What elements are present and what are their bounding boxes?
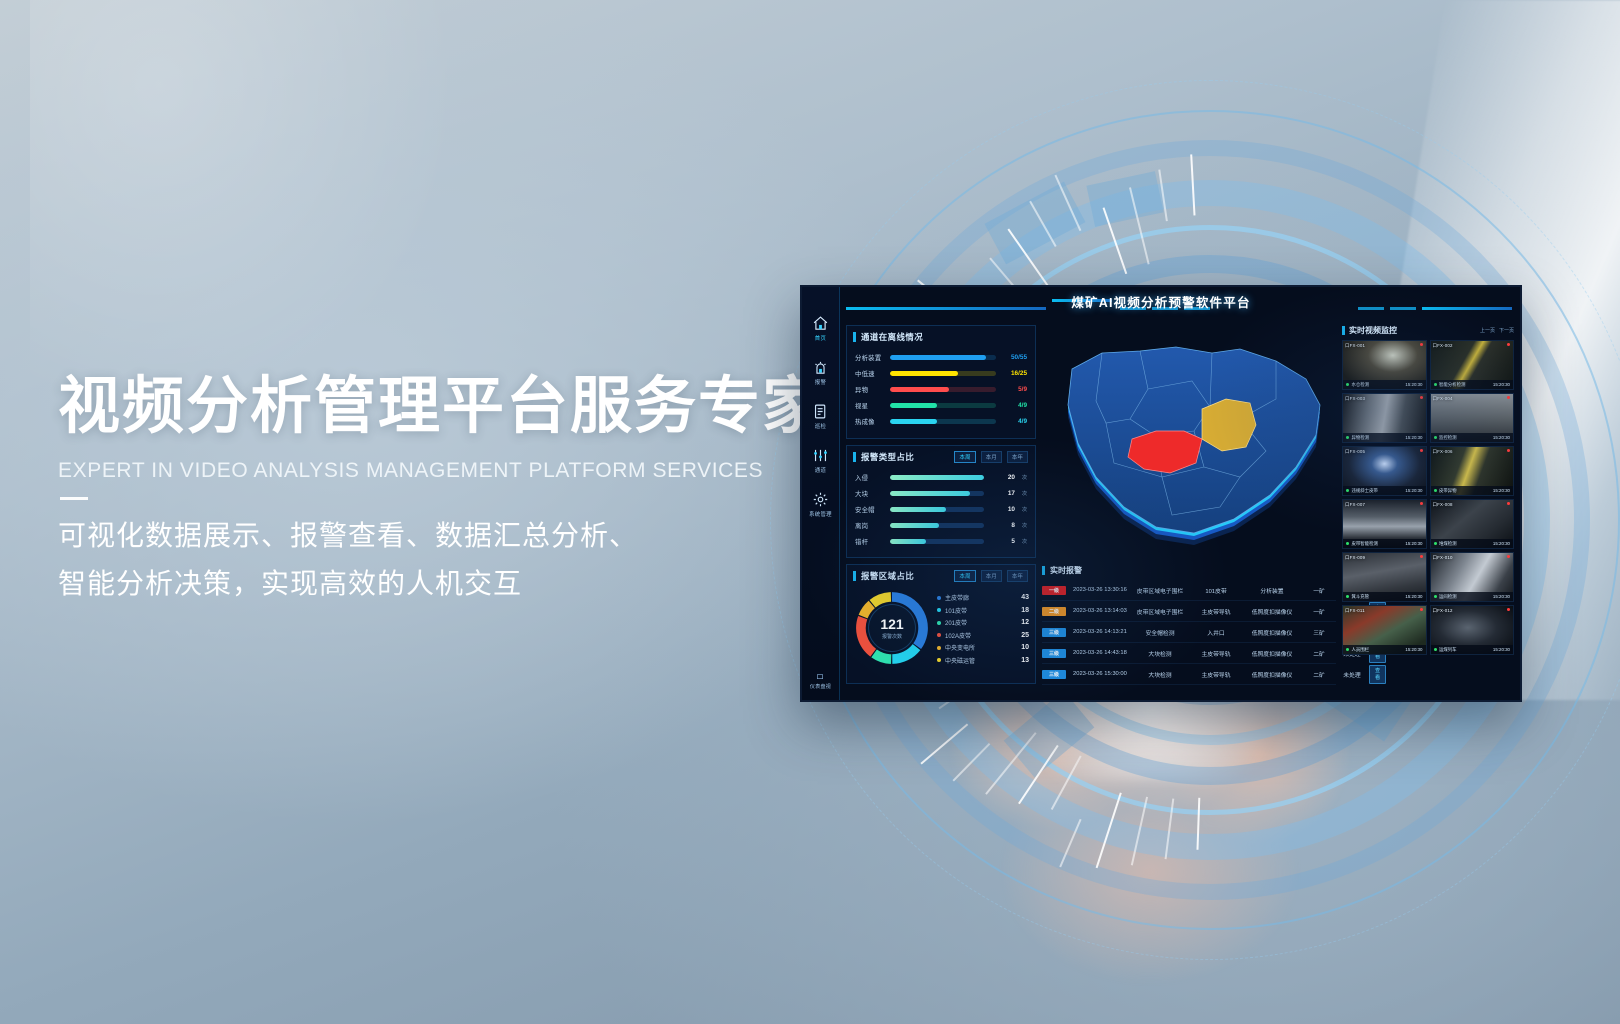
recording-indicator [1420, 396, 1423, 399]
video-footer: 监控检测15:20:30 [1431, 433, 1514, 442]
alarm-location: 主皮带导轨 [1191, 649, 1241, 658]
channel-row-fill [890, 355, 986, 360]
camera-name: 水仓检测 [1352, 382, 1370, 388]
recording-indicator [1507, 396, 1510, 399]
camera-name: 皮带异物 [1439, 488, 1457, 494]
status-badge: 三级 [1042, 628, 1066, 637]
accent-bar [853, 452, 856, 462]
channel-row: 热成像4/9 [847, 417, 1035, 426]
alarm-type-value: 5 [989, 538, 1015, 545]
camera-time: 15:20:30 [1405, 488, 1422, 493]
camera-id: 口FX-002 [1433, 343, 1453, 349]
alarm-type: 皮带区域电子围栏 [1129, 586, 1191, 595]
alarm-type-track [890, 523, 984, 528]
channel-row: 中低速16/25 [847, 369, 1035, 378]
tick-mark [1059, 819, 1081, 868]
table-row: 三级2023-03-26 14:43:18大块检测主皮带导轨低照度扣描像仪二矿未… [1042, 643, 1336, 664]
donut-segment[interactable] [873, 597, 891, 604]
tick-mark [1129, 187, 1150, 264]
sidebar-item-home[interactable]: 首页 [812, 315, 829, 342]
donut-chart: 121 报警次数 [855, 591, 929, 665]
recording-indicator [1420, 502, 1423, 505]
alarm-type-panel: 报警类型占比 本周本月本年 入侵20次大块17次安全帽10次离岗8次错杆5次 [846, 445, 1036, 558]
legend-dot [937, 646, 941, 650]
alarm-type-label: 大块 [855, 489, 885, 498]
donut-segment[interactable] [874, 653, 891, 659]
hero-copy: 视频分析管理平台服务专家 EXPERT IN VIDEO ANALYSIS MA… [58, 372, 838, 608]
alarm-type-label: 安全帽 [855, 505, 885, 514]
period-tab[interactable]: 本年 [1007, 451, 1028, 463]
period-tab[interactable]: 本周 [954, 451, 975, 463]
alarm-device: 低照度扣描像仪 [1241, 607, 1303, 616]
alarm-device: 分析装置 [1241, 586, 1303, 595]
donut-caption: 报警次数 [882, 633, 902, 640]
alarm-type-row: 错杆5次 [847, 537, 1035, 546]
camera-id: 口FX-006 [1433, 449, 1453, 455]
video-footer: 堆煤检测15:20:30 [1431, 539, 1514, 548]
tick-mark [1165, 798, 1175, 859]
video-footer: 箕斗充管15:20:30 [1343, 592, 1426, 601]
tick-mark [1103, 207, 1128, 274]
channel-row-fill [890, 403, 937, 408]
alarm-area-chart: 121 报警次数 主皮带廊43101皮带18201皮带12102A皮带25中央变… [847, 585, 1035, 665]
camera-time: 15:20:30 [1493, 594, 1510, 599]
sidebar-label-inspection: 巡检 [815, 422, 826, 430]
screen-icon [816, 673, 824, 681]
realtime-alarm-title: 实时报警 [1050, 565, 1082, 576]
alarm-location: 主皮带导轨 [1191, 607, 1241, 616]
alarm-time: 2023-03-26 13:30:16 [1073, 587, 1129, 593]
alarm-type: 皮带区域电子围栏 [1129, 607, 1191, 616]
hero-line-2: 智能分析决策，实现高效的人机交互 [58, 560, 838, 608]
channel-row: 异物5/9 [847, 385, 1035, 394]
camera-id: 口FX-010 [1433, 555, 1453, 561]
camera-id: 口FX-008 [1433, 502, 1453, 508]
table-row: 三级2023-03-26 15:30:00大块检测主皮带导轨低照度扣描像仪二矿未… [1042, 664, 1336, 685]
legend-value: 43 [1021, 594, 1029, 601]
online-dot [1434, 648, 1437, 651]
accent-bar [853, 332, 856, 342]
channel-row-track [890, 371, 996, 376]
alarm-row-list: 一级2023-03-26 13:30:16皮带区域电子围栏101皮带分析装置一矿… [1042, 580, 1336, 685]
legend-dot [937, 621, 941, 625]
sidebar-item-channel[interactable]: 通道 [812, 447, 829, 474]
camera-time: 15:20:30 [1493, 435, 1510, 440]
donut-legend-item: 主皮带廊43 [937, 593, 1029, 602]
tick-mark [1096, 792, 1122, 868]
alarm-location: 101皮带 [1191, 586, 1241, 595]
alarm-area-header: 报警区域占比 本周本月本年 [847, 565, 1035, 585]
province-map[interactable] [1044, 327, 1356, 559]
camera-time: 15:20:30 [1405, 435, 1422, 440]
recording-indicator [1420, 608, 1423, 611]
alarm-time: 2023-03-26 15:30:00 [1073, 671, 1129, 677]
tick-mark [1054, 175, 1081, 231]
map-region-yellow[interactable] [1202, 399, 1256, 451]
alarm-type-label: 入侵 [855, 473, 885, 482]
online-dot [1434, 595, 1437, 598]
alarm-icon [812, 359, 829, 376]
alarm-type-value: 17 [989, 490, 1015, 497]
alarm-location: 主皮带导轨 [1191, 670, 1241, 679]
video-footer: 异物检测15:20:30 [1343, 433, 1426, 442]
alarm-mine: 一矿 [1303, 607, 1335, 616]
alarm-type-row: 安全帽10次 [847, 505, 1035, 514]
camera-id: 口FX-003 [1345, 396, 1365, 402]
channel-panel-header: 通道在离线情况 [847, 326, 1035, 346]
camera-time: 15:20:30 [1405, 647, 1422, 652]
alarm-type-track [890, 491, 984, 496]
alarm-type-value: 20 [989, 474, 1015, 481]
status-badge: 一级 [1042, 586, 1066, 595]
camera-time: 15:20:30 [1405, 541, 1422, 546]
alarm-type-tabs[interactable]: 本周本月本年 [954, 451, 1028, 463]
video-footer: 皮带智能检测15:20:30 [1343, 539, 1426, 548]
video-tile[interactable]: 口FX-011人员围栏15:20:30 [1342, 605, 1427, 655]
camera-time: 15:20:30 [1493, 541, 1510, 546]
recording-indicator [1507, 555, 1510, 558]
recording-indicator [1420, 343, 1423, 346]
tick-mark [1131, 797, 1148, 866]
donut-center: 121 报警次数 [868, 604, 916, 652]
donut-legend-item: 101皮带18 [937, 606, 1029, 615]
realtime-alarm-header: 实时报警 [1042, 565, 1336, 576]
alarm-type-unit: 次 [1022, 490, 1027, 497]
camera-name: 智能分析检测 [1439, 382, 1465, 388]
divider [60, 497, 88, 500]
donut-legend-item: 中央变电所10 [937, 643, 1029, 652]
camera-name: 运间检测 [1439, 594, 1457, 600]
camera-name: 皮带智能检测 [1352, 541, 1378, 547]
video-tile[interactable]: 口FX-010运间检测15:20:30 [1430, 552, 1515, 602]
online-dot [1434, 489, 1437, 492]
tick-mark [920, 724, 968, 765]
recording-indicator [1507, 449, 1510, 452]
period-tab[interactable]: 本月 [981, 451, 1002, 463]
video-tile[interactable]: 口FX-008堆煤检测15:20:30 [1430, 499, 1515, 549]
alarm-mine: 二矿 [1303, 649, 1335, 658]
channel-row-fill [890, 371, 958, 376]
channel-row-value: 5/9 [1001, 386, 1027, 393]
legend-value: 12 [1021, 619, 1029, 626]
legend-dot [937, 658, 941, 662]
legend-value: 18 [1021, 607, 1029, 614]
channel-row-label: 中低速 [855, 369, 885, 378]
tick-mark [1190, 154, 1195, 215]
online-dot [1346, 595, 1349, 598]
alarm-time: 2023-03-26 13:14:03 [1073, 608, 1129, 614]
dashboard-title: 煤矿AI视频分析预警软件平台 [802, 292, 1520, 311]
legend-label: 102A皮带 [945, 631, 1017, 640]
online-dot [1346, 436, 1349, 439]
alarm-mine: 一矿 [1303, 586, 1335, 595]
video-pagination[interactable]: 上一页 下一页 [1480, 327, 1514, 334]
home-icon [812, 315, 829, 332]
channel-row-fill [890, 419, 937, 424]
tick-mark [1029, 201, 1056, 247]
channel-row-track [890, 403, 996, 408]
alarm-area-tabs[interactable]: 本周本月本年 [954, 570, 1028, 582]
camera-name: 异物检测 [1352, 435, 1370, 441]
channel-row-fill [890, 387, 949, 392]
alarm-device: 低照度扣描像仪 [1241, 649, 1303, 658]
video-footer: 智能分析检测15:20:30 [1431, 380, 1514, 389]
sidebar-item-system[interactable]: 系统管理 [809, 491, 832, 518]
channel-row-label: 异物 [855, 385, 885, 394]
legend-dot [937, 608, 941, 612]
alarm-type-value: 10 [989, 506, 1015, 513]
channel-row-value: 16/25 [1001, 370, 1027, 377]
legend-value: 10 [1021, 644, 1029, 651]
tick-mark [1196, 798, 1200, 850]
online-dot [1434, 542, 1437, 545]
period-tab[interactable]: 本周 [954, 570, 975, 582]
accent-bar [1042, 566, 1045, 575]
camera-id: 口FX-004 [1433, 396, 1453, 402]
online-dot [1434, 383, 1437, 386]
camera-id: 口FX-012 [1433, 608, 1453, 614]
left-panel-column: 通道在离线情况 分析装置50/55中低速16/25异物5/9视星4/9热成像4/… [846, 325, 1036, 684]
video-footer: 人员围栏15:20:30 [1343, 645, 1426, 654]
alarm-type-rows: 入侵20次大块17次安全帽10次离岗8次错杆5次 [847, 473, 1035, 546]
inspection-icon [812, 403, 829, 420]
camera-id: 口FX-007 [1345, 502, 1365, 508]
sidebar-label-alarm: 报警 [815, 378, 826, 386]
sidebar-item-alarm[interactable]: 报警 [812, 359, 829, 386]
tick-mark [985, 732, 1036, 795]
table-row: 三级2023-03-26 14:13:21安全帽检测入井口低照度扣描像仪三矿未处… [1042, 622, 1336, 643]
sidebar-label-home: 首页 [815, 334, 826, 342]
sidebar-corner-note: 仪表盘视 [810, 673, 831, 690]
hero-line-1: 可视化数据展示、报警查看、数据汇总分析、 [58, 512, 838, 560]
dashboard-screen: 煤矿AI视频分析预警软件平台 首页 报警 巡检 [802, 287, 1520, 700]
alarm-type-value: 8 [989, 522, 1015, 529]
gear-icon [812, 491, 829, 508]
camera-time: 15:20:30 [1493, 488, 1510, 493]
alarm-mine: 二矿 [1303, 670, 1335, 679]
camera-time: 15:20:30 [1493, 647, 1510, 652]
recording-indicator [1507, 343, 1510, 346]
dashboard-sidebar[interactable]: 首页 报警 巡检 通道 [802, 287, 840, 700]
recording-indicator [1420, 555, 1423, 558]
alarm-device: 低照度扣描像仪 [1241, 670, 1303, 679]
legend-label: 201皮带 [945, 618, 1017, 627]
alarm-mine: 三矿 [1303, 628, 1335, 637]
channel-row: 视星4/9 [847, 401, 1035, 410]
legend-value: 13 [1021, 657, 1029, 664]
video-tile[interactable]: 口FX-012运煤列车15:20:30 [1430, 605, 1515, 655]
legend-value: 25 [1021, 632, 1029, 639]
status-badge: 三级 [1042, 649, 1066, 658]
status-badge: 三级 [1042, 670, 1066, 679]
alarm-time: 2023-03-26 14:43:18 [1073, 650, 1129, 656]
legend-label: 中央磁运管 [945, 656, 1017, 665]
alarm-type-unit: 次 [1022, 538, 1027, 545]
alarm-type-fill [890, 539, 926, 544]
alarm-area-panel: 报警区域占比 本周本月本年 121 报警次数 主皮带廊43101皮带18201皮… [846, 564, 1036, 684]
alarm-type-row: 入侵20次 [847, 473, 1035, 482]
alarm-type-fill [890, 475, 984, 480]
alarm-type-fill [890, 491, 970, 496]
donut-legend-item: 中央磁运管13 [937, 656, 1029, 665]
channel-row-track [890, 355, 996, 360]
video-footer: 皮带异物15:20:30 [1431, 486, 1514, 495]
alarm-type-track [890, 475, 984, 480]
alarm-location: 入井口 [1191, 628, 1241, 637]
next-page-button[interactable]: 下一页 [1499, 327, 1514, 334]
alarm-type-fill [890, 523, 939, 528]
video-tile[interactable]: 口FX-005违规斜士皮带15:20:30 [1342, 446, 1427, 496]
video-tile[interactable]: 口FX-003异物检测15:20:30 [1342, 393, 1427, 443]
status-badge: 二级 [1042, 607, 1066, 616]
dashboard-monitor: 煤矿AI视频分析预警软件平台 首页 报警 巡检 [800, 285, 1522, 702]
dashboard-topbar: 煤矿AI视频分析预警软件平台 [802, 287, 1520, 321]
channel-row-value: 50/55 [1001, 354, 1027, 361]
camera-name: 箕斗充管 [1352, 594, 1370, 600]
online-dot [1346, 648, 1349, 651]
video-footer: 运间检测15:20:30 [1431, 592, 1514, 601]
channel-row-track [890, 419, 996, 424]
camera-time: 15:20:30 [1405, 382, 1422, 387]
alarm-type-fill [890, 507, 946, 512]
video-tile[interactable]: 口FX-007皮带智能检测15:20:30 [1342, 499, 1427, 549]
table-row: 二级2023-03-26 13:14:03皮带区域电子围栏主皮带导轨低照度扣描像… [1042, 601, 1336, 622]
video-panel-header: 实时视频监控 上一页 下一页 [1342, 325, 1514, 336]
period-tab[interactable]: 本月 [981, 570, 1002, 582]
prev-page-button[interactable]: 上一页 [1480, 327, 1495, 334]
channel-icon [812, 447, 829, 464]
tick-mark [952, 743, 990, 782]
video-surveillance-panel: 实时视频监控 上一页 下一页 口FX-001水仓检测15:20:30口FX-00… [1342, 325, 1514, 686]
realtime-alarm-panel: 实时报警 一级2023-03-26 13:30:16皮带区域电子围栏101皮带分… [1042, 565, 1336, 686]
video-tile[interactable]: 口FX-009箕斗充管15:20:30 [1342, 552, 1427, 602]
donut-legend-item: 201皮带12 [937, 618, 1029, 627]
online-dot [1346, 542, 1349, 545]
video-tile[interactable]: 口FX-006皮带异物15:20:30 [1430, 446, 1515, 496]
channel-panel-title: 通道在离线情况 [861, 331, 923, 343]
alarm-type-label: 错杆 [855, 537, 885, 546]
recording-indicator [1507, 608, 1510, 611]
map-svg [1044, 327, 1356, 559]
alarm-type-row: 大块17次 [847, 489, 1035, 498]
alarm-type-unit: 次 [1022, 506, 1027, 513]
recording-indicator [1507, 502, 1510, 505]
alarm-time: 2023-03-26 14:13:21 [1073, 629, 1129, 635]
channel-row-value: 4/9 [1001, 402, 1027, 409]
video-tile[interactable]: 口FX-001水仓检测15:20:30 [1342, 340, 1427, 390]
page-title: 视频分析管理平台服务专家 [58, 372, 838, 441]
tick-mark [1051, 755, 1082, 810]
donut-total: 121 [880, 617, 903, 631]
online-dot [1346, 489, 1349, 492]
camera-id: 口FX-001 [1345, 343, 1365, 349]
accent-bar [853, 571, 856, 581]
donut-legend-item: 102A皮带25 [937, 631, 1029, 640]
legend-label: 中央变电所 [945, 643, 1017, 652]
sidebar-label-channel: 通道 [815, 466, 826, 474]
channel-row: 分析装置50/55 [847, 353, 1035, 362]
table-row: 一级2023-03-26 13:30:16皮带区域电子围栏101皮带分析装置一矿… [1042, 580, 1336, 601]
sidebar-label-system: 系统管理 [809, 510, 832, 518]
channel-row-track [890, 387, 996, 392]
legend-label: 101皮带 [945, 606, 1017, 615]
alarm-type-unit: 次 [1022, 474, 1027, 481]
online-dot [1346, 383, 1349, 386]
legend-dot [937, 633, 941, 637]
video-footer: 运煤列车15:20:30 [1431, 645, 1514, 654]
channel-row-label: 分析装置 [855, 353, 885, 362]
camera-name: 运煤列车 [1439, 647, 1457, 653]
video-grid: 口FX-001水仓检测15:20:30口FX-002智能分析检测15:20:30… [1342, 340, 1514, 655]
channel-row-label: 视星 [855, 401, 885, 410]
sidebar-corner-label: 仪表盘视 [810, 683, 831, 690]
camera-time: 15:20:30 [1493, 382, 1510, 387]
online-dot [1434, 436, 1437, 439]
alarm-type-track [890, 539, 984, 544]
video-footer: 水仓检测15:20:30 [1343, 380, 1426, 389]
channel-row-value: 4/9 [1001, 418, 1027, 425]
recording-indicator [1420, 449, 1423, 452]
alarm-type-unit: 次 [1022, 522, 1027, 529]
alarm-type-header: 报警类型占比 本周本月本年 [847, 446, 1035, 466]
video-footer: 违规斜士皮带15:20:30 [1343, 486, 1426, 495]
camera-name: 违规斜士皮带 [1352, 488, 1378, 494]
donut-legend: 主皮带廊43101皮带18201皮带12102A皮带25中央变电所10中央磁运管… [937, 591, 1029, 665]
alarm-type-label: 离岗 [855, 521, 885, 530]
alarm-area-title: 报警区域占比 [861, 570, 914, 582]
accent-bar [1342, 326, 1345, 335]
channel-row-label: 热成像 [855, 417, 885, 426]
channel-status-panel: 通道在离线情况 分析装置50/55中低速16/25异物5/9视星4/9热成像4/… [846, 325, 1036, 439]
period-tab[interactable]: 本年 [1007, 570, 1028, 582]
alarm-type-row: 离岗8次 [847, 521, 1035, 530]
camera-id: 口FX-011 [1345, 608, 1365, 614]
alarm-type: 安全帽检测 [1129, 628, 1191, 637]
camera-id: 口FX-005 [1345, 449, 1365, 455]
video-panel-title: 实时视频监控 [1349, 325, 1397, 336]
video-tile[interactable]: 口FX-002智能分析检测15:20:30 [1430, 340, 1515, 390]
camera-name: 监控检测 [1439, 435, 1457, 441]
legend-dot [937, 596, 941, 600]
camera-time: 15:20:30 [1405, 594, 1422, 599]
alarm-type-title: 报警类型占比 [861, 451, 914, 463]
channel-rows: 分析装置50/55中低速16/25异物5/9视星4/9热成像4/9 [847, 353, 1035, 426]
alarm-type-track [890, 507, 984, 512]
alarm-type: 大块检测 [1129, 649, 1191, 658]
alarm-type: 大块检测 [1129, 670, 1191, 679]
tick-mark [1158, 170, 1168, 222]
tick-mark [1018, 745, 1059, 804]
alarm-device: 低照度扣描像仪 [1241, 628, 1303, 637]
camera-name: 堆煤检测 [1439, 541, 1457, 547]
sidebar-item-inspection[interactable]: 巡检 [812, 403, 829, 430]
camera-name: 人员围栏 [1352, 647, 1370, 653]
legend-label: 主皮带廊 [945, 593, 1017, 602]
video-tile[interactable]: 口FX-004监控检测15:20:30 [1430, 393, 1515, 443]
hero-subtitle: EXPERT IN VIDEO ANALYSIS MANAGEMENT PLAT… [58, 459, 838, 483]
camera-id: 口FX-009 [1345, 555, 1365, 561]
